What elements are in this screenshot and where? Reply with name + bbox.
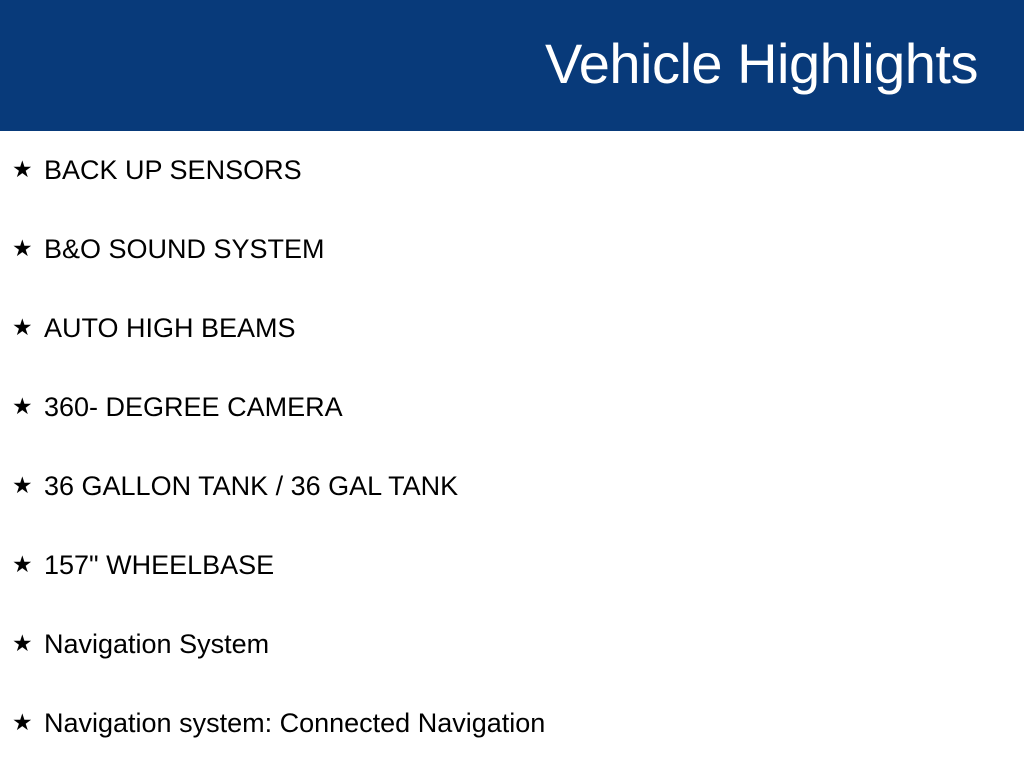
highlight-label: 360- DEGREE CAMERA [34,394,343,421]
star-bullet-icon: ★ [12,238,34,261]
star-bullet-icon: ★ [12,475,34,498]
star-bullet-icon: ★ [12,159,34,182]
highlight-label: Navigation system: Connected Navigation [34,710,545,737]
star-bullet-icon: ★ [12,554,34,577]
highlight-label: AUTO HIGH BEAMS [34,315,296,342]
list-item: ★ 36 GALLON TANK / 36 GAL TANK [0,447,1024,526]
list-item: ★ BACK UP SENSORS [0,131,1024,210]
list-item: ★ AUTO HIGH BEAMS [0,289,1024,368]
list-item: ★ Navigation system: Connected Navigatio… [0,684,1024,763]
page-title: Vehicle Highlights [545,36,978,96]
highlight-label: BACK UP SENSORS [34,157,302,184]
header-band: Vehicle Highlights [0,0,1024,131]
star-bullet-icon: ★ [12,317,34,340]
list-item: ★ Navigation System [0,605,1024,684]
vehicle-highlights-slide: Vehicle Highlights ★ BACK UP SENSORS ★ B… [0,0,1024,768]
list-item: ★ 360- DEGREE CAMERA [0,368,1024,447]
star-bullet-icon: ★ [12,396,34,419]
list-item: ★ B&O SOUND SYSTEM [0,210,1024,289]
highlight-label: 157" WHEELBASE [34,552,274,579]
highlight-label: 36 GALLON TANK / 36 GAL TANK [34,473,458,500]
vehicle-highlights-list: ★ BACK UP SENSORS ★ B&O SOUND SYSTEM ★ A… [0,131,1024,763]
star-bullet-icon: ★ [12,712,34,735]
list-item: ★ 157" WHEELBASE [0,526,1024,605]
highlight-label: B&O SOUND SYSTEM [34,236,325,263]
highlight-label: Navigation System [34,631,269,658]
star-bullet-icon: ★ [12,633,34,656]
